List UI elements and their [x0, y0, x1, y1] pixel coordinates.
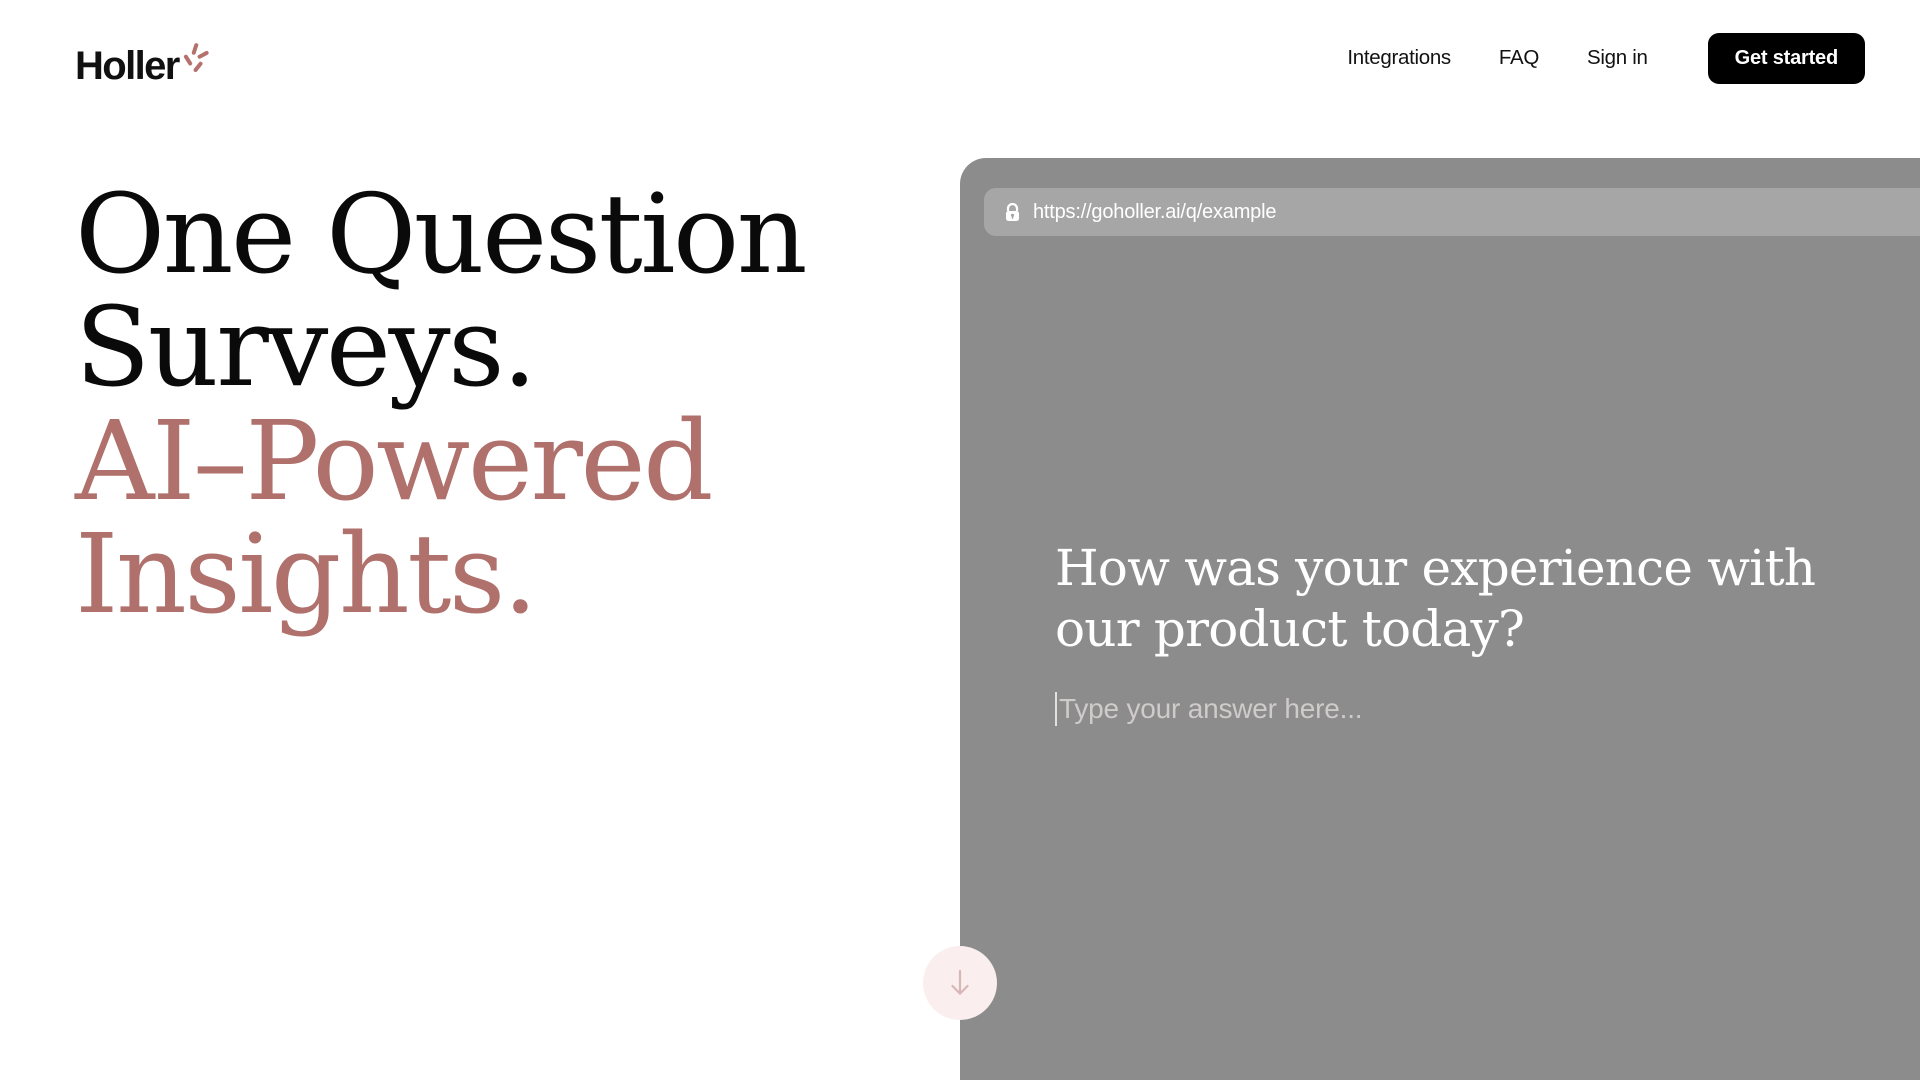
get-started-button[interactable]: Get started: [1708, 33, 1865, 84]
hero-copy: One Question Surveys. AI–Powered Insight…: [75, 178, 875, 631]
survey-answer-placeholder: Type your answer here...: [1059, 695, 1362, 723]
sparkle-burst-icon: [180, 42, 210, 86]
nav-link-faq[interactable]: FAQ: [1475, 48, 1563, 69]
browser-address-bar[interactable]: https://goholler.ai/q/example: [984, 188, 1920, 236]
headline-line-1: One Question: [75, 178, 875, 291]
brand-logo-text: Holler: [75, 46, 179, 86]
address-bar-url: https://goholler.ai/q/example: [1033, 202, 1276, 222]
survey-card: How was your experience with our product…: [1055, 538, 1885, 730]
arrow-down-icon: [947, 968, 973, 998]
scroll-down-button[interactable]: [923, 946, 997, 1020]
survey-question-text: How was your experience with our product…: [1055, 538, 1885, 660]
headline-line-3: AI–Powered: [75, 405, 875, 518]
site-header: Holler Integrations FAQ Sign in Get star…: [0, 0, 1920, 116]
page-title: One Question Surveys. AI–Powered Insight…: [75, 178, 875, 631]
padlock-icon: [1004, 203, 1021, 222]
headline-line-4: Insights.: [75, 518, 875, 631]
nav-link-sign-in[interactable]: Sign in: [1563, 48, 1672, 69]
survey-answer-input[interactable]: Type your answer here...: [1055, 688, 1885, 730]
text-caret: [1055, 692, 1057, 726]
headline-line-2: Surveys.: [75, 291, 875, 404]
browser-mock-panel: https://goholler.ai/q/example How was yo…: [960, 158, 1920, 1080]
brand-logo[interactable]: Holler: [75, 30, 210, 86]
primary-nav: Integrations FAQ Sign in Get started: [1323, 33, 1865, 84]
nav-link-integrations[interactable]: Integrations: [1323, 48, 1475, 69]
landing-page: Holler Integrations FAQ Sign in Get star…: [0, 0, 1920, 1080]
